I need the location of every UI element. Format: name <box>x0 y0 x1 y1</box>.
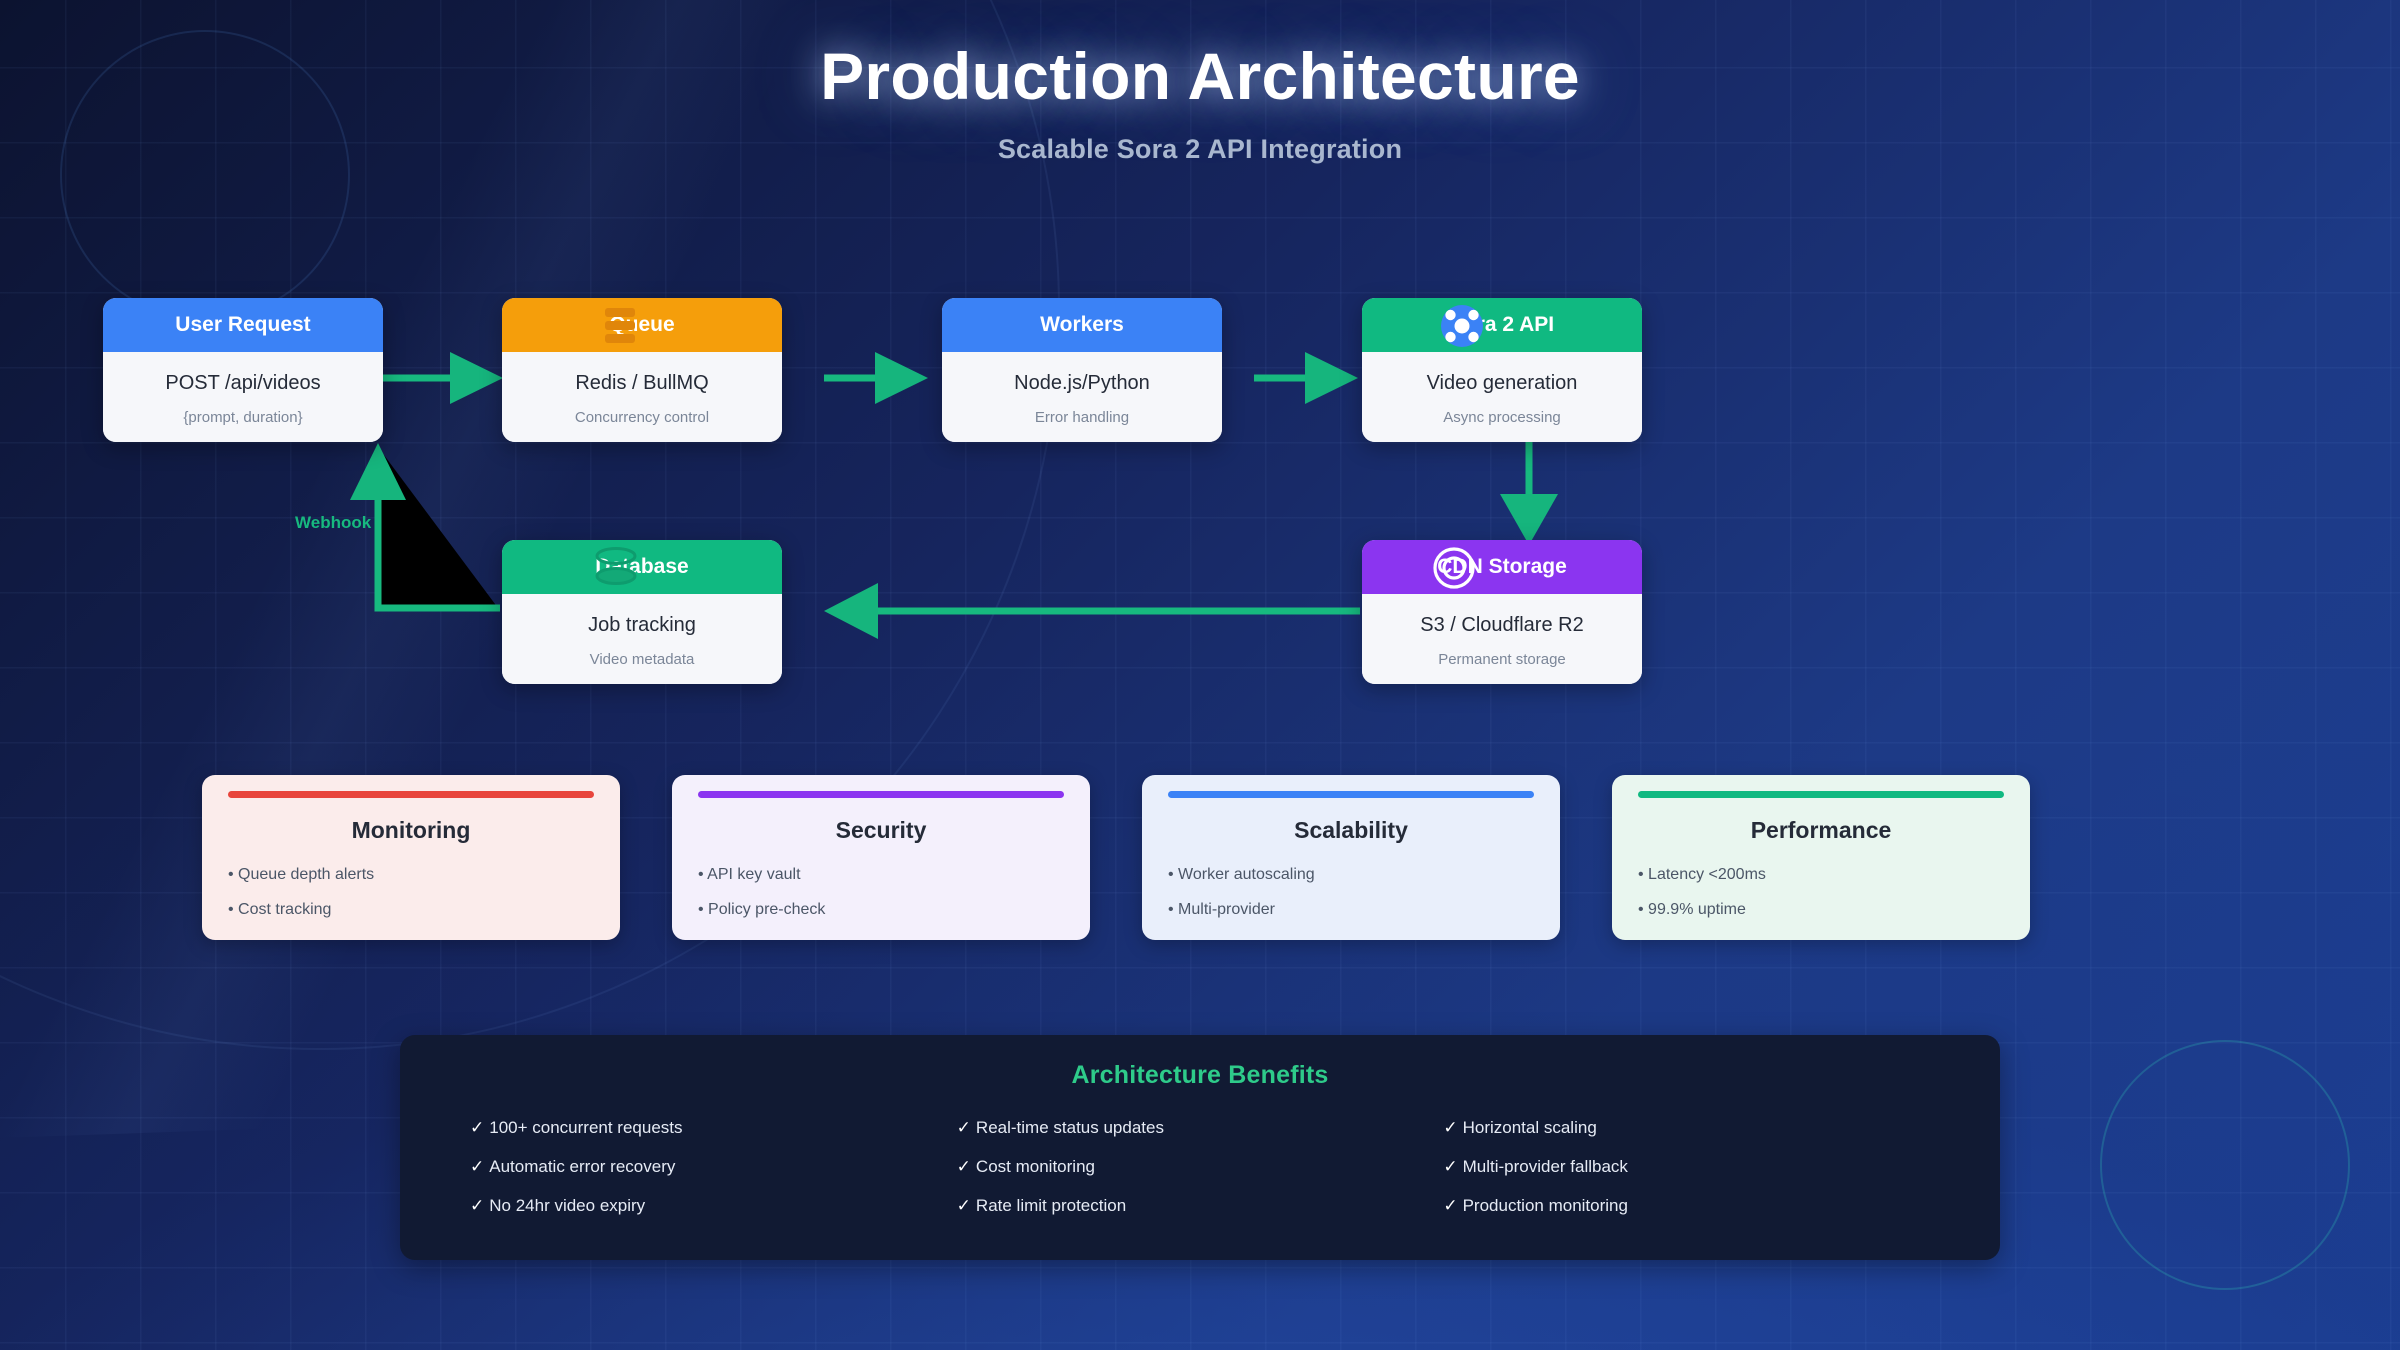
node-sub-text: Error handling <box>952 409 1212 426</box>
benefit-label: Real-time status updates <box>976 1118 1164 1137</box>
check-icon: ✓ <box>1443 1157 1457 1176</box>
benefits-column: ✓100+ concurrent requests ✓Automatic err… <box>470 1118 957 1235</box>
card-accent-bar <box>698 791 1064 798</box>
card-list-item: • Worker autoscaling <box>1168 866 1534 884</box>
benefits-columns: ✓100+ concurrent requests ✓Automatic err… <box>470 1118 1930 1235</box>
decorative-circle-bottom-right <box>2100 1040 2350 1290</box>
benefits-column: ✓Real-time status updates ✓Cost monitori… <box>957 1118 1444 1235</box>
flow-node-queue[interactable]: Queue Redis / BullMQ Concurrency control <box>502 298 782 442</box>
node-main-text: POST /api/videos <box>113 372 373 395</box>
card-list-item: • Policy pre-check <box>698 901 1064 919</box>
feature-card-monitoring[interactable]: Monitoring • Queue depth alerts • Cost t… <box>202 775 620 940</box>
benefit-label: Horizontal scaling <box>1463 1118 1597 1137</box>
database-cylinder-icon <box>594 546 638 590</box>
check-icon: ✓ <box>957 1118 971 1137</box>
card-list-item: • API key vault <box>698 866 1064 884</box>
card-list-item: • Latency <200ms <box>1638 866 2004 884</box>
benefit-label: No 24hr video expiry <box>489 1196 645 1215</box>
check-icon: ✓ <box>470 1196 484 1215</box>
benefit-label: 100+ concurrent requests <box>489 1118 682 1137</box>
node-header: Sora 2 API <box>1362 298 1642 352</box>
node-sub-text: Async processing <box>1372 409 1632 426</box>
check-icon: ✓ <box>957 1157 971 1176</box>
node-body: POST /api/videos {prompt, duration} <box>103 352 383 442</box>
node-main-text: Node.js/Python <box>952 372 1212 395</box>
card-title: Security <box>698 817 1064 844</box>
benefits-column: ✓Horizontal scaling ✓Multi-provider fall… <box>1443 1118 1930 1235</box>
flow-node-cdn-storage[interactable]: CDN Storage S3 / Cloudflare R2 Permanent… <box>1362 540 1642 684</box>
node-title: Workers <box>1040 313 1124 337</box>
node-sub-text: Permanent storage <box>1372 651 1632 668</box>
node-body: Job tracking Video metadata <box>502 594 782 684</box>
benefit-label: Automatic error recovery <box>489 1157 675 1176</box>
node-body: Redis / BullMQ Concurrency control <box>502 352 782 442</box>
benefit-label: Multi-provider fallback <box>1463 1157 1628 1176</box>
node-body: S3 / Cloudflare R2 Permanent storage <box>1362 594 1642 684</box>
benefit-label: Cost monitoring <box>976 1157 1095 1176</box>
flow-node-database[interactable]: Database Job tracking Video metadata <box>502 540 782 684</box>
feature-card-performance[interactable]: Performance • Latency <200ms • 99.9% upt… <box>1612 775 2030 940</box>
ai-node-icon <box>1440 304 1484 348</box>
benefit-item: ✓Real-time status updates <box>957 1118 1444 1138</box>
benefit-item: ✓No 24hr video expiry <box>470 1196 957 1216</box>
benefit-item: ✓Production monitoring <box>1443 1196 1930 1216</box>
card-accent-bar <box>228 791 594 798</box>
check-icon: ✓ <box>957 1196 971 1215</box>
card-list: • Latency <200ms • 99.9% uptime <box>1638 866 2004 919</box>
card-title: Scalability <box>1168 817 1534 844</box>
node-main-text: Job tracking <box>512 614 772 637</box>
card-title: Monitoring <box>228 817 594 844</box>
benefit-item: ✓Multi-provider fallback <box>1443 1157 1930 1177</box>
node-header: User Request <box>103 298 383 352</box>
card-list: • API key vault • Policy pre-check <box>698 866 1064 919</box>
page-title: Production Architecture <box>0 38 2400 114</box>
feature-card-scalability[interactable]: Scalability • Worker autoscaling • Multi… <box>1142 775 1560 940</box>
architecture-benefits-panel: Architecture Benefits ✓100+ concurrent r… <box>400 1035 2000 1260</box>
node-header: CDN Storage <box>1362 540 1642 594</box>
stack-icon <box>598 304 642 348</box>
node-header: Database <box>502 540 782 594</box>
feature-card-security[interactable]: Security • API key vault • Policy pre-ch… <box>672 775 1090 940</box>
check-icon: ✓ <box>1443 1118 1457 1137</box>
concentric-circles-icon <box>1432 546 1476 590</box>
card-accent-bar <box>1168 791 1534 798</box>
node-body: Node.js/Python Error handling <box>942 352 1222 442</box>
card-list: • Worker autoscaling • Multi-provider <box>1168 866 1534 919</box>
flow-node-sora-2-api[interactable]: Sora 2 API Video generation Async proces… <box>1362 298 1642 442</box>
card-list-item: • 99.9% uptime <box>1638 901 2004 919</box>
card-title: Performance <box>1638 817 2004 844</box>
webhook-label: Webhook <box>295 513 371 533</box>
benefit-item: ✓100+ concurrent requests <box>470 1118 957 1138</box>
card-list-item: • Multi-provider <box>1168 901 1534 919</box>
check-icon: ✓ <box>1443 1196 1457 1215</box>
header: Production Architecture Scalable Sora 2 … <box>0 38 2400 165</box>
node-sub-text: Concurrency control <box>512 409 772 426</box>
check-icon: ✓ <box>470 1157 484 1176</box>
benefit-item: ✓Rate limit protection <box>957 1196 1444 1216</box>
card-list-item: • Queue depth alerts <box>228 866 594 884</box>
check-icon: ✓ <box>470 1118 484 1137</box>
node-title: User Request <box>175 313 310 337</box>
node-header: Workers <box>942 298 1222 352</box>
node-body: Video generation Async processing <box>1362 352 1642 442</box>
node-sub-text: Video metadata <box>512 651 772 668</box>
benefit-label: Production monitoring <box>1463 1196 1628 1215</box>
benefit-label: Rate limit protection <box>976 1196 1126 1215</box>
benefit-item: ✓Cost monitoring <box>957 1157 1444 1177</box>
card-list: • Queue depth alerts • Cost tracking <box>228 866 594 919</box>
benefit-item: ✓Automatic error recovery <box>470 1157 957 1177</box>
benefits-title: Architecture Benefits <box>470 1061 1930 1090</box>
node-main-text: S3 / Cloudflare R2 <box>1372 614 1632 637</box>
card-list-item: • Cost tracking <box>228 901 594 919</box>
node-main-text: Redis / BullMQ <box>512 372 772 395</box>
node-header: Queue <box>502 298 782 352</box>
page-subtitle: Scalable Sora 2 API Integration <box>0 134 2400 165</box>
card-accent-bar <box>1638 791 2004 798</box>
node-sub-text: {prompt, duration} <box>113 409 373 426</box>
flow-node-user-request[interactable]: User Request POST /api/videos {prompt, d… <box>103 298 383 442</box>
node-main-text: Video generation <box>1372 372 1632 395</box>
flow-node-workers[interactable]: Workers Node.js/Python Error handling <box>942 298 1222 442</box>
benefit-item: ✓Horizontal scaling <box>1443 1118 1930 1138</box>
